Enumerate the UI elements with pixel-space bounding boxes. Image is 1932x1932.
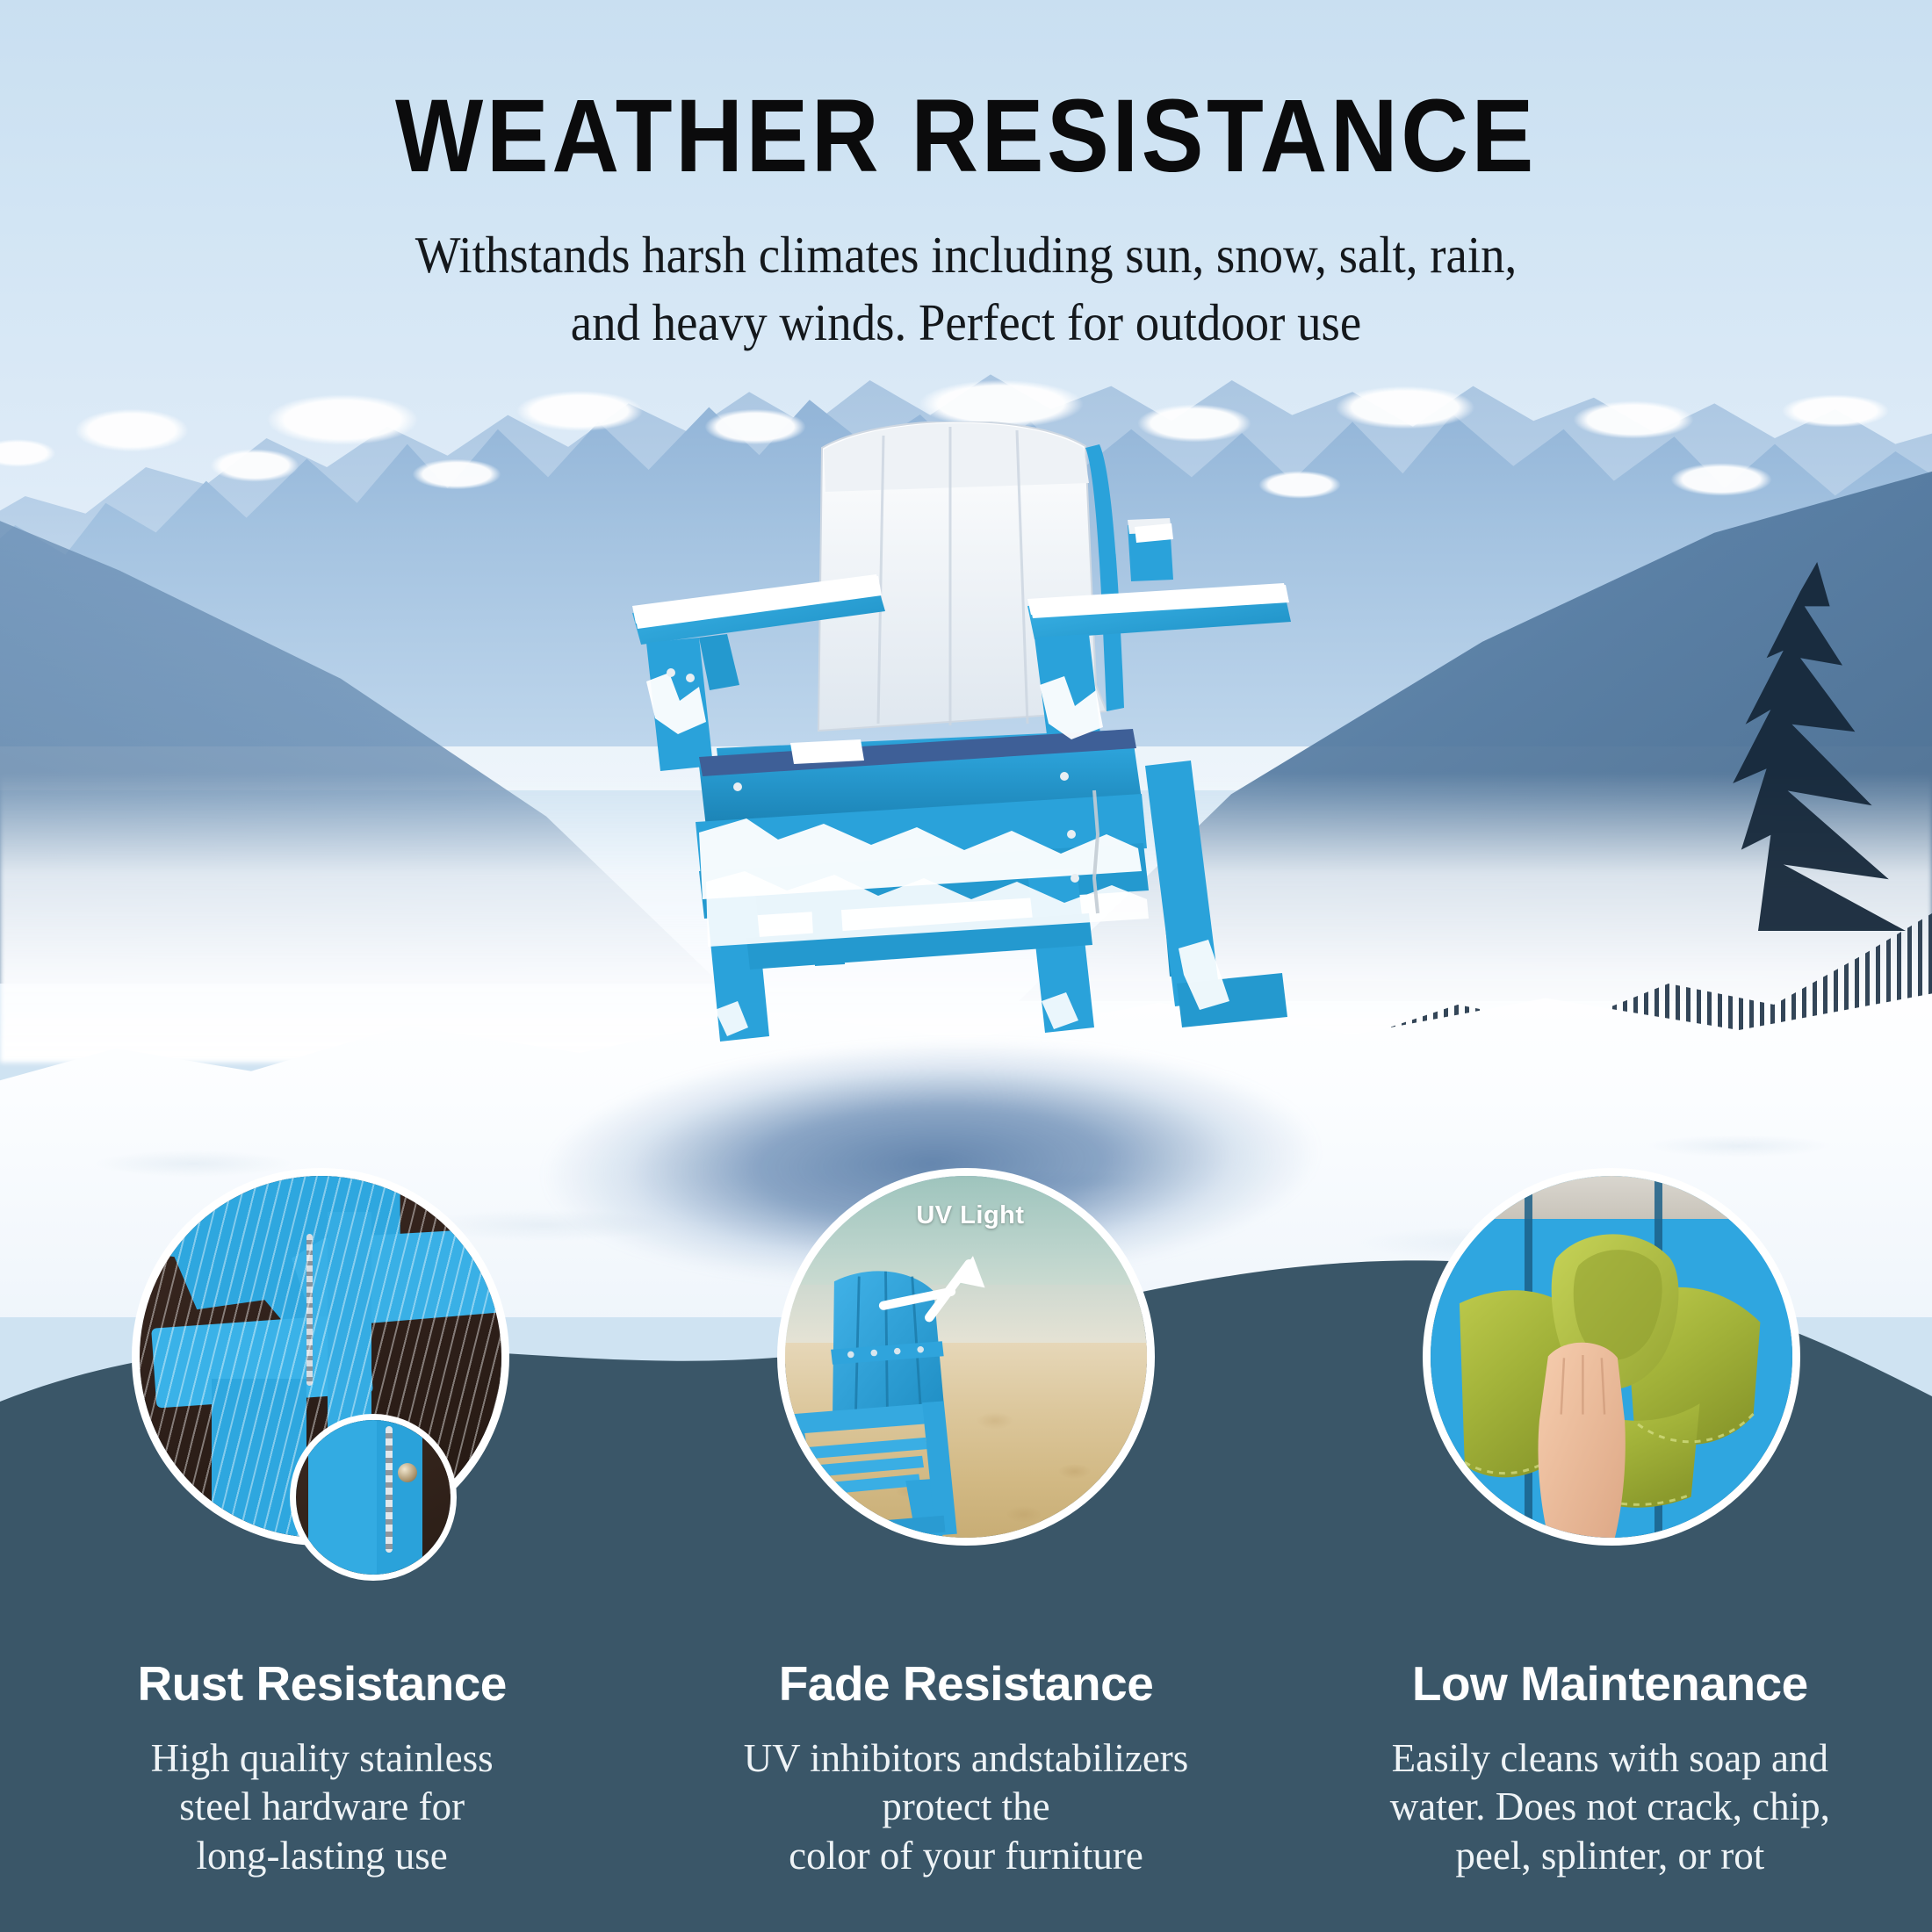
feature-rust-resistance: Rust Resistance High quality stainless s… xyxy=(0,1655,644,1881)
inset-stainless-chain xyxy=(386,1426,393,1553)
deck-strip xyxy=(1431,1176,1792,1219)
feature-body-line-2: water. Does not crack, chip, xyxy=(1313,1783,1907,1832)
inset-chair-panel-right xyxy=(377,1420,423,1575)
weather-resistance-infographic: WEATHER RESISTANCE Withstands harsh clim… xyxy=(0,0,1932,1932)
feature-body-line-1: Easily cleans with soap and xyxy=(1313,1734,1907,1784)
inset-chair-panel-left xyxy=(308,1420,386,1575)
subtitle-line-2: and heavy winds. Perfect for outdoor use xyxy=(68,289,1864,357)
feature-body: High quality stainless steel hardware fo… xyxy=(25,1734,619,1881)
subtitle-line-1: Withstands harsh climates including sun,… xyxy=(68,221,1864,289)
feature-body-line-2: steel hardware for xyxy=(25,1783,619,1832)
feature-heading: Fade Resistance xyxy=(668,1655,1263,1712)
feature-body: Easily cleans with soap and water. Does … xyxy=(1313,1734,1907,1881)
header: WEATHER RESISTANCE Withstands harsh clim… xyxy=(0,84,1932,356)
feature-body-line-3: color of your furniture xyxy=(668,1832,1263,1881)
feature-image-circles: UV Light xyxy=(0,1168,1932,1572)
feature-body-line-3: peel, splinter, or rot xyxy=(1313,1832,1907,1881)
feature-body-line-3: long-lasting use xyxy=(25,1832,619,1881)
page-title: WEATHER RESISTANCE xyxy=(97,84,1835,188)
cleaning-scene xyxy=(1431,1176,1792,1538)
feature-body-line-2: protect the xyxy=(668,1783,1263,1832)
feature-fade-resistance: Fade Resistance UV inhibitors andstabili… xyxy=(644,1655,1287,1881)
page-subtitle: Withstands harsh climates including sun,… xyxy=(68,221,1864,356)
feature-heading: Low Maintenance xyxy=(1313,1655,1907,1712)
uv-light-label: UV Light xyxy=(916,1201,1024,1230)
feature-text-row: Rust Resistance High quality stainless s… xyxy=(0,1655,1932,1881)
uv-light-arrow-icon xyxy=(872,1248,1002,1328)
feature-heading: Rust Resistance xyxy=(25,1655,619,1712)
beach-scene: UV Light xyxy=(785,1176,1147,1538)
feature-image-low-maintenance xyxy=(1423,1168,1800,1546)
feature-body-line-1: UV inhibitors andstabilizers xyxy=(668,1734,1263,1784)
feature-low-maintenance: Low Maintenance Easily cleans with soap … xyxy=(1288,1655,1932,1881)
magnified-chain-inset xyxy=(290,1414,457,1581)
feature-body: UV inhibitors andstabilizers protect the… xyxy=(668,1734,1263,1881)
hand xyxy=(1510,1306,1655,1546)
feature-image-fade-resistance: UV Light xyxy=(777,1168,1155,1546)
hero-adirondack-chair xyxy=(615,422,1335,1054)
feature-body-line-1: High quality stainless xyxy=(25,1734,619,1784)
